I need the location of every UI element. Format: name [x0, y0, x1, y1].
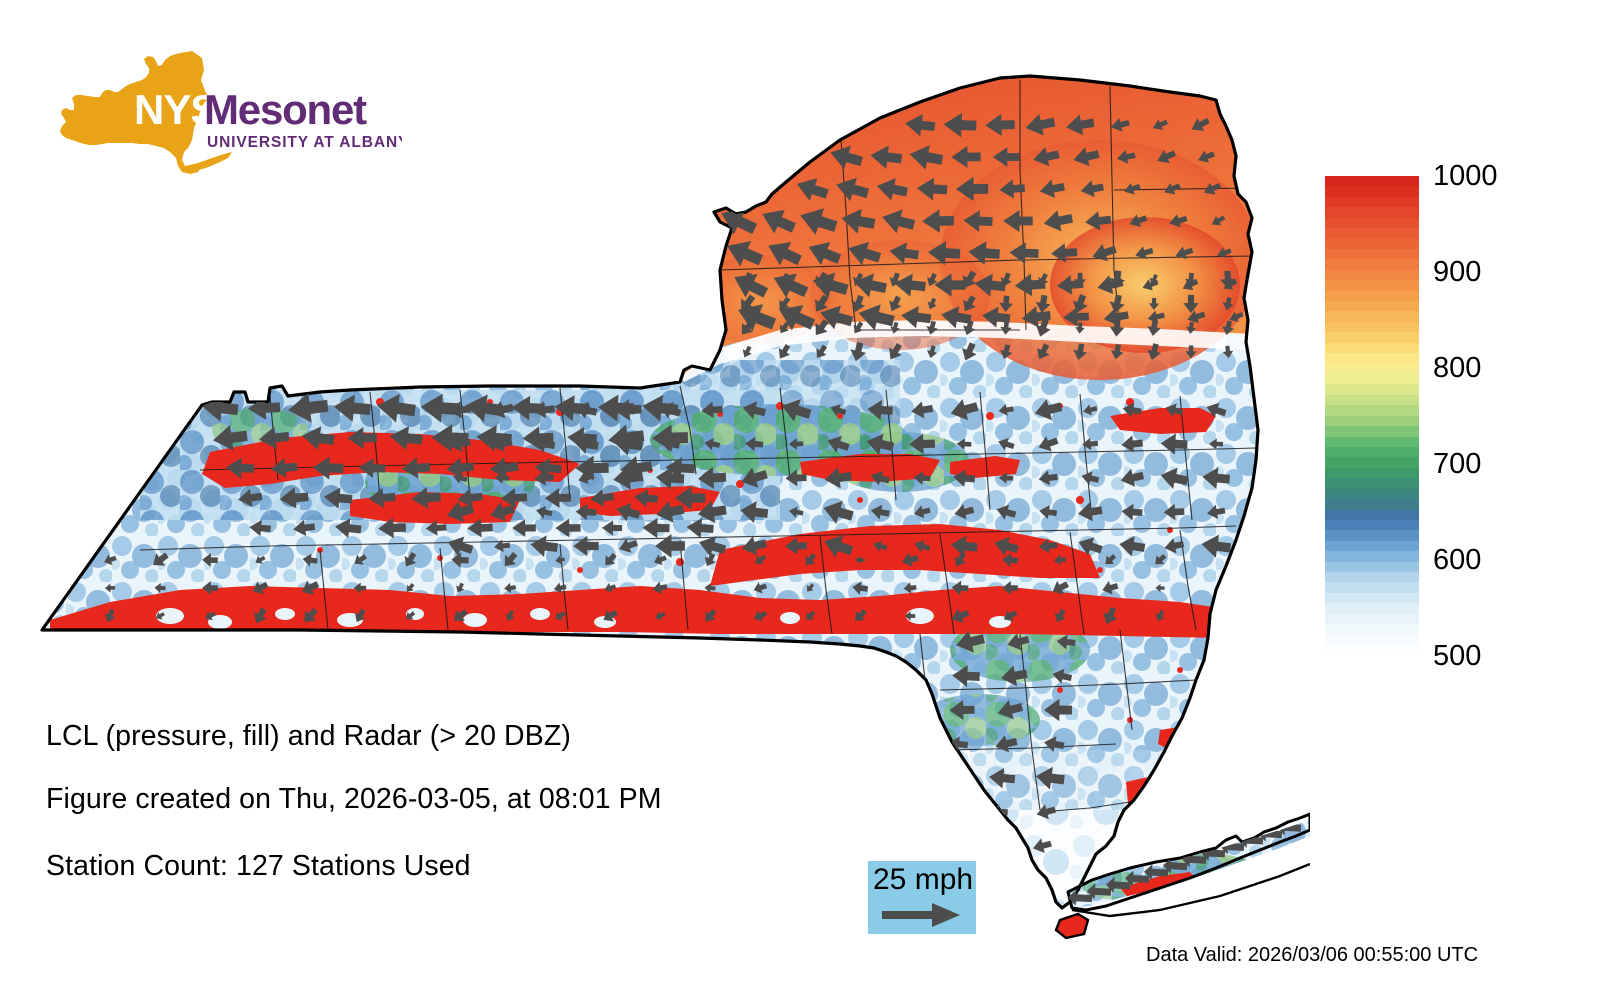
colorbar-band — [1325, 186, 1419, 196]
colorbar-band — [1325, 645, 1419, 655]
wind-legend-label: 25 mph — [873, 863, 973, 897]
colorbar-band — [1325, 405, 1419, 415]
colorbar-band — [1325, 332, 1419, 342]
colorbar-band — [1325, 239, 1419, 249]
wind-arrow-icon — [1241, 179, 1262, 198]
colorbar-band — [1325, 562, 1419, 572]
colorbar-band — [1325, 510, 1419, 520]
colorbar-band — [1325, 635, 1419, 645]
colorbar-band — [1325, 582, 1419, 592]
colorbar-band — [1325, 520, 1419, 530]
colorbar-band — [1325, 614, 1419, 624]
colorbar-band — [1325, 311, 1419, 321]
lcl-pressure-colorbar — [1325, 176, 1419, 656]
colorbar-band — [1325, 207, 1419, 217]
colorbar-band — [1325, 259, 1419, 269]
colorbar-band — [1325, 624, 1419, 634]
wind-arrow-icon — [1230, 116, 1251, 135]
wind-arrow-icon — [940, 767, 967, 789]
colorbar-band — [1325, 603, 1419, 613]
wind-arrow-icon — [1237, 149, 1255, 165]
colorbar-band — [1325, 322, 1419, 332]
colorbar-band — [1325, 384, 1419, 394]
figure-root: NYS Mesonet UNIVERSITY AT ALBANY — [0, 0, 1600, 1000]
colorbar-band — [1325, 280, 1419, 290]
colorbar-band — [1325, 218, 1419, 228]
colorbar-tick-800: 800 — [1433, 354, 1481, 383]
colorbar-band — [1325, 291, 1419, 301]
colorbar-tick-600: 600 — [1433, 546, 1481, 575]
colorbar-band — [1325, 249, 1419, 259]
colorbar-band — [1325, 416, 1419, 426]
colorbar-band — [1325, 301, 1419, 311]
figure-created-text: Figure created on Thu, 2026-03-05, at 08… — [46, 784, 662, 814]
colorbar-band — [1325, 197, 1419, 207]
colorbar-band — [1325, 176, 1419, 186]
wind-arrow-icon — [703, 273, 718, 288]
colorbar-band — [1325, 353, 1419, 363]
colorbar-band — [1325, 457, 1419, 467]
colorbar-group: 1000 900 800 700 600 500 — [1325, 176, 1575, 666]
colorbar-band — [1325, 551, 1419, 561]
colorbar-band — [1325, 489, 1419, 499]
colorbar-band — [1325, 270, 1419, 280]
lcl-pressure-fill-layer — [20, 30, 1310, 960]
colorbar-tick-700: 700 — [1433, 450, 1481, 479]
colorbar-band — [1325, 468, 1419, 478]
colorbar-band — [1325, 437, 1419, 447]
colorbar-band — [1325, 447, 1419, 457]
wind-legend-arrow-icon — [882, 901, 962, 929]
map-panel[interactable] — [20, 30, 1310, 960]
colorbar-tick-900: 900 — [1433, 258, 1481, 287]
figure-title-text: LCL (pressure, fill) and Radar (> 20 DBZ… — [46, 721, 571, 751]
data-valid-text: Data Valid: 2026/03/06 00:55:00 UTC — [1146, 944, 1478, 966]
colorbar-band — [1325, 530, 1419, 540]
colorbar-band — [1325, 478, 1419, 488]
ny-state-map[interactable] — [20, 30, 1310, 960]
colorbar-band — [1325, 593, 1419, 603]
colorbar-band — [1325, 572, 1419, 582]
colorbar-tick-1000: 1000 — [1433, 162, 1498, 191]
wind-arrow-icon — [936, 838, 957, 855]
staten-island-outline — [1056, 914, 1088, 938]
wind-speed-legend: 25 mph — [868, 861, 976, 934]
wind-arrow-icon — [699, 317, 721, 340]
wind-arrow-icon — [984, 838, 1004, 854]
colorbar-band — [1325, 426, 1419, 436]
colorbar-band — [1325, 541, 1419, 551]
colorbar-band — [1325, 395, 1419, 405]
wind-arrow-icon — [699, 292, 722, 316]
colorbar-band — [1325, 374, 1419, 384]
colorbar-band — [1325, 499, 1419, 509]
wind-arrow-icon — [941, 805, 960, 820]
colorbar-band — [1325, 343, 1419, 353]
colorbar-tick-500: 500 — [1433, 642, 1481, 671]
colorbar-band — [1325, 364, 1419, 374]
colorbar-band — [1325, 228, 1419, 238]
station-count-text: Station Count: 127 Stations Used — [46, 851, 471, 881]
